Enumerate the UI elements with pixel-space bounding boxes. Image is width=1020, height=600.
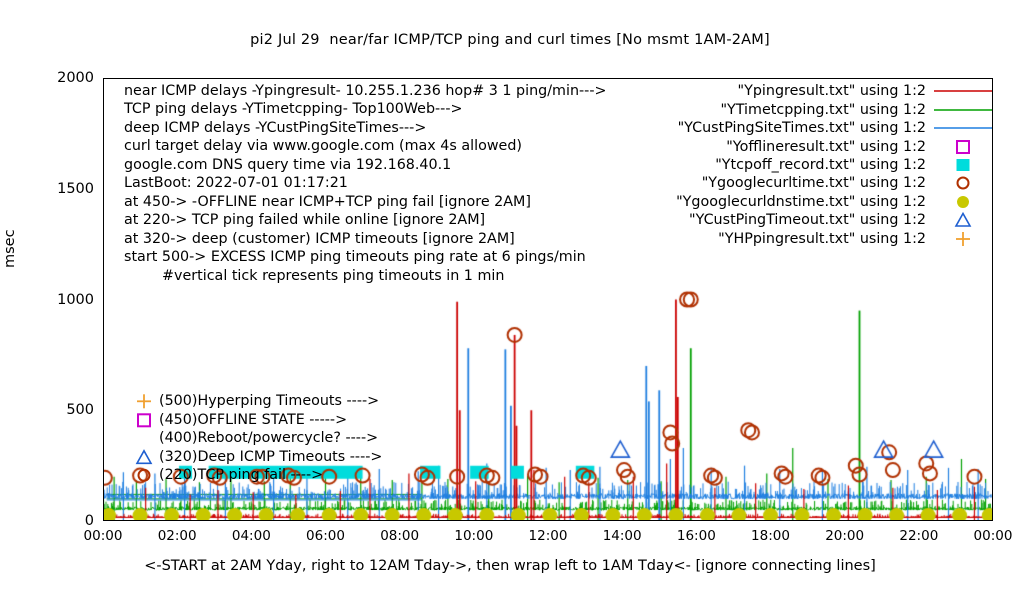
annotation-line: at 450-> -OFFLINE near ICMP+TCP ping fai…	[124, 193, 606, 211]
inner-key-label: (320)Deep ICMP Timeouts ---->	[159, 449, 382, 465]
legend-ypingresult: "Ypingresult.txt" using 1:2	[564, 82, 994, 100]
legend-label: "Ypingresult.txt" using 1:2	[738, 83, 926, 99]
annotation-line: TCP ping delays -YTimetcpping- Top100Web…	[124, 100, 606, 118]
legend-ytimetcpping: "YTimetcpping.txt" using 1:2	[564, 100, 994, 118]
inner-key-label: (500)Hyperping Timeouts ---->	[159, 393, 379, 409]
inner-key-label: (220)TCP ping fail ---->	[159, 467, 323, 483]
x-tick-label: 20:00	[825, 528, 864, 544]
legend-yhppingresult: "YHPpingresult.txt" using 1:2	[564, 230, 994, 248]
annotation-line: start 500-> EXCESS ICMP ping timeouts pi…	[124, 248, 606, 266]
annotation-line: near ICMP delays -Ypingresult- 10.255.1.…	[124, 82, 606, 100]
innerkey-deep-icmp-timeouts: (320)Deep ICMP Timeouts ---->	[159, 448, 382, 467]
legend-yofflineresult: "Yofflineresult.txt" using 1:2	[564, 137, 994, 155]
annotation-line: at 220-> TCP ping failed while online [i…	[124, 211, 606, 229]
legend-ycustpingsitetimes: "YCustPingSiteTimes.txt" using 1:2	[564, 119, 994, 137]
innerkey-offline-state: (450)OFFLINE STATE ----->	[159, 411, 382, 430]
legend-key-icon	[932, 230, 994, 248]
legend-key-icon	[932, 193, 994, 211]
legend-key-icon	[932, 101, 994, 119]
x-tick-label: 16:00	[677, 528, 716, 544]
y-tick-label: 1500	[57, 181, 94, 197]
x-tick-label: 14:00	[603, 528, 642, 544]
legend-label: "Ygooglecurltime.txt" using 1:2	[702, 175, 926, 191]
innerkey-reboot-powercycle: (400)Reboot/powercycle? ---->	[159, 429, 382, 448]
legend-key-icon	[932, 211, 994, 229]
inner-key-symbol	[133, 448, 155, 467]
inner-key-label: (400)Reboot/powercycle? ---->	[159, 430, 378, 446]
x-tick-label: 10:00	[454, 528, 493, 544]
legend-key-icon	[932, 138, 994, 156]
legend-ygooglecurldnstime: "Ygooglecurldnstime.txt" using 1:2	[564, 193, 994, 211]
inner-key-block: (500)Hyperping Timeouts ---->(450)OFFLIN…	[159, 392, 382, 485]
legend-ytcpoff-record: "Ytcpoff_record.txt" using 1:2	[564, 156, 994, 174]
legend-label: "YTimetcpping.txt" using 1:2	[720, 102, 926, 118]
x-tick-label: 00:00	[84, 528, 123, 544]
annotation-line: #vertical tick represents ping timeouts …	[124, 267, 606, 285]
y-tick-label: 1000	[57, 292, 94, 308]
legend-key-icon	[932, 82, 994, 100]
legend: "Ypingresult.txt" using 1:2"YTimetcpping…	[564, 82, 994, 248]
x-tick-label: 08:00	[380, 528, 419, 544]
x-tick-label: 00:00	[974, 528, 1013, 544]
inner-key-symbol	[133, 411, 155, 430]
x-tick-label: 12:00	[529, 528, 568, 544]
x-tick-label: 04:00	[232, 528, 271, 544]
inner-key-label: (450)OFFLINE STATE ----->	[159, 412, 347, 428]
annotation-block: near ICMP delays -Ypingresult- 10.255.1.…	[124, 82, 606, 285]
inner-key-symbol	[133, 466, 155, 485]
innerkey-tcp-ping-fail: (220)TCP ping fail ---->	[159, 466, 382, 485]
legend-label: "Ytcpoff_record.txt" using 1:2	[715, 157, 926, 173]
legend-key-icon	[932, 119, 994, 137]
legend-key-icon	[932, 156, 994, 174]
y-tick-label: 2000	[57, 70, 94, 86]
legend-label: "Ygooglecurldnstime.txt" using 1:2	[676, 194, 926, 210]
legend-label: "YHPpingresult.txt" using 1:2	[718, 231, 926, 247]
y-tick-label: 0	[85, 513, 94, 529]
annotation-line: LastBoot: 2022-07-01 01:17:21	[124, 174, 606, 192]
legend-ycustpingtimeout: "YCustPingTimeout.txt" using 1:2	[564, 211, 994, 229]
x-axis-label: <-START at 2AM Yday, right to 12AM Tday-…	[0, 558, 1020, 574]
annotation-line: curl target delay via www.google.com (ma…	[124, 137, 606, 155]
x-tick-label: 02:00	[158, 528, 197, 544]
x-tick-label: 22:00	[899, 528, 938, 544]
chart-title: pi2 Jul 29 near/far ICMP/TCP ping and cu…	[0, 32, 1020, 48]
y-tick-label: 500	[66, 402, 94, 418]
annotation-line: deep ICMP delays -YCustPingSiteTimes--->	[124, 119, 606, 137]
legend-key-icon	[932, 174, 994, 192]
inner-key-symbol	[133, 392, 155, 411]
annotation-line: google.com DNS query time via 192.168.40…	[124, 156, 606, 174]
annotation-line: at 320-> deep (customer) ICMP timeouts […	[124, 230, 606, 248]
innerkey-hyperping-timeouts: (500)Hyperping Timeouts ---->	[159, 392, 382, 411]
x-tick-label: 06:00	[306, 528, 345, 544]
legend-label: "YCustPingSiteTimes.txt" using 1:2	[678, 120, 926, 136]
y-axis-ticks: 0500100015002000	[0, 78, 94, 521]
legend-label: "Yofflineresult.txt" using 1:2	[726, 139, 926, 155]
legend-label: "YCustPingTimeout.txt" using 1:2	[689, 212, 926, 228]
legend-ygooglecurltime: "Ygooglecurltime.txt" using 1:2	[564, 174, 994, 192]
x-axis-ticks: 00:0002:0004:0006:0008:0010:0012:0014:00…	[0, 528, 1020, 548]
x-tick-label: 18:00	[751, 528, 790, 544]
